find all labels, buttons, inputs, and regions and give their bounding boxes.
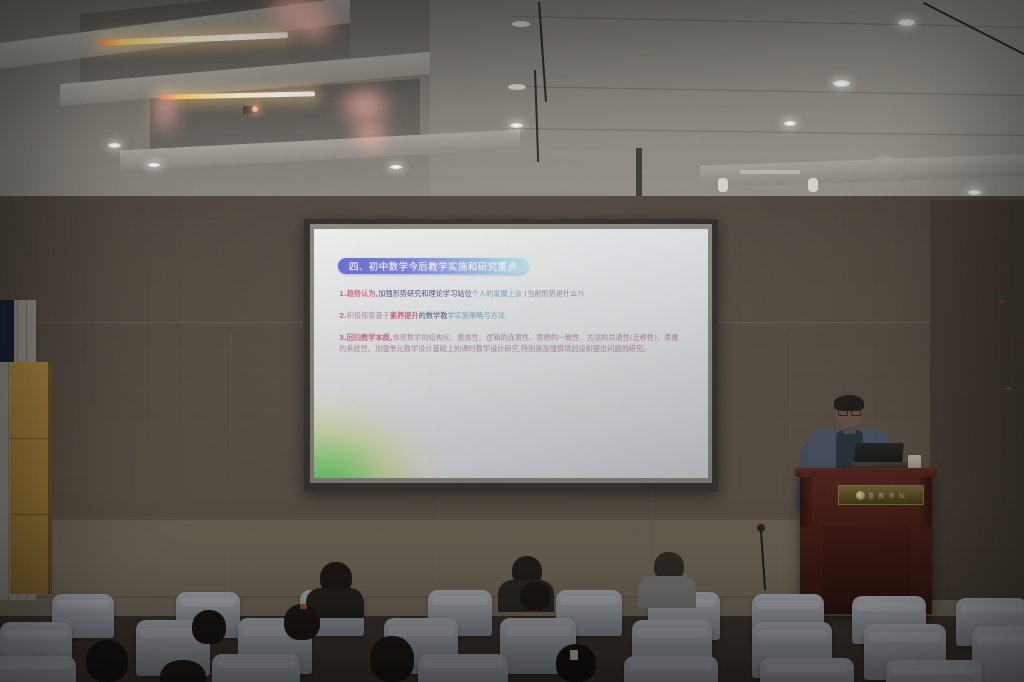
person-head	[370, 636, 414, 682]
seat[interactable]	[760, 658, 854, 682]
ceiling-glow	[152, 88, 178, 134]
podium-nameplate-text: 重 教 师 坛	[868, 491, 906, 500]
bullet-2-b: 素养提升	[390, 311, 419, 320]
slide-corner-gradient	[314, 392, 442, 478]
bullet-1-c: 个人的发展上去	[472, 289, 522, 298]
spotlight-rail	[740, 170, 800, 174]
hair-clip	[300, 604, 307, 609]
person-head	[86, 640, 128, 682]
person-head	[284, 604, 320, 640]
slide-bullet-1: 1.趋势认为,加强形势研究和理论学习站位个人的发展上去 (当前形势是什么?)	[339, 288, 684, 299]
downlight	[510, 123, 523, 128]
wall-seam-vertical	[230, 330, 231, 598]
bullet-3-a: 回归数学本质,	[347, 333, 393, 342]
downlight	[108, 143, 121, 148]
downlight	[968, 190, 981, 195]
seat[interactable]	[418, 654, 508, 682]
microphone-icon	[757, 524, 765, 532]
dark-curtain	[0, 300, 14, 362]
bullet-1-b: 加强形势研究和理论学习站位	[378, 289, 471, 298]
wall-marker-dot	[1006, 387, 1011, 390]
wood-wall-panel	[10, 362, 52, 594]
wall-seam-vertical	[438, 492, 439, 598]
downlight	[390, 165, 402, 169]
person-head	[520, 582, 550, 610]
ceiling-rosette	[508, 84, 526, 90]
person-shoulders	[638, 576, 696, 608]
downlight	[833, 80, 850, 87]
ceiling-rosette	[512, 21, 530, 27]
slide-body: 1.趋势认为,加强形势研究和理论学习站位个人的发展上去 (当前形势是什么?) 2…	[339, 288, 684, 355]
slide-bullet-2: 2.积极探索基于素养提升的数学教学实施策略与方法	[339, 310, 684, 321]
spotlight-head	[718, 178, 728, 192]
bullet-3-index: 3.	[339, 333, 347, 342]
bullet-2-c: 的数学教	[419, 311, 448, 320]
ceiling-fixture-lamp	[252, 106, 258, 112]
ceiling-glow	[338, 86, 392, 124]
downlight	[898, 19, 915, 26]
bullet-1-d: (当前形势是什么?)	[524, 289, 584, 298]
seat[interactable]	[624, 656, 718, 682]
auditorium-scene: 四、初中数学今后教学实施和研究重点 1.趋势认为,加强形势研究和理论学习站位个人…	[0, 0, 1024, 682]
ceiling-glow	[350, 120, 390, 150]
bullet-1-a: 趋势认为,	[347, 289, 378, 298]
glasses-icon	[838, 409, 860, 414]
ceiling-glow	[290, 8, 338, 42]
bullet-2-index: 2.	[339, 311, 347, 320]
hair-clip	[570, 650, 578, 660]
wood-panel-edge	[48, 362, 52, 594]
slide-bullet-3: 3.回归数学本质,体现数学的结构化、整体性、逻辑的连贯性、思想的一致性、方法的共…	[339, 332, 684, 354]
bullet-2-d: 学实施策略与方法	[447, 311, 505, 320]
slide-title-text: 四、初中数学今后教学实施和研究重点	[349, 259, 517, 273]
person-head	[192, 610, 226, 644]
slide-title-pill: 四、初中数学今后教学实施和研究重点	[338, 258, 528, 274]
ceiling	[0, 0, 1024, 215]
wall-marker-dot	[1000, 300, 1004, 304]
bullet-1-index: 1.	[339, 289, 347, 298]
laptop-screen	[854, 443, 904, 464]
emblem-icon	[856, 491, 865, 500]
right-wall	[930, 200, 1024, 600]
spotlight-head	[808, 178, 818, 192]
seat[interactable]	[212, 654, 300, 682]
seat[interactable]	[0, 656, 76, 682]
downlight	[148, 163, 160, 167]
podium-left-bevel	[800, 477, 812, 527]
presentation-slide: 四、初中数学今后教学实施和研究重点 1.趋势认为,加强形势研究和理论学习站位个人…	[314, 229, 708, 478]
downlight	[784, 121, 796, 126]
bullet-2-a: 积极探索基于	[347, 311, 390, 320]
wall-seam-vertical	[790, 330, 791, 490]
podium-nameplate: 重 教 师 坛	[838, 485, 924, 505]
seat[interactable]	[886, 660, 982, 682]
